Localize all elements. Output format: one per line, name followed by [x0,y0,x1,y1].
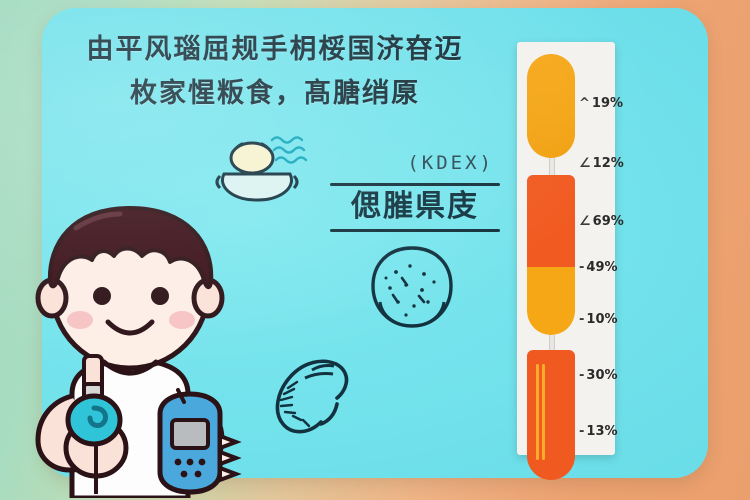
gauge-column [527,54,575,444]
tick-value: 19% [592,96,623,111]
subtitle-code: (KDEX) [330,152,500,174]
tick-value: 69% [593,214,624,229]
gauge-tick: -30% [579,368,618,383]
gauge-tick: ^19% [579,96,623,111]
gauge-segment-middle-hot [527,175,575,267]
gauge-tick: ∠69% [579,214,624,229]
divider-bottom [330,229,500,232]
gauge-tick: -49% [579,260,618,275]
tick-dash: - [579,368,584,383]
tick-dash: ∠ [579,214,591,229]
tick-dash: - [579,260,584,275]
divider-top [330,183,500,186]
gauge-segment-top [527,54,575,158]
headline-line-2: 枚家惺粄食，髙膅绡厡 [60,76,490,112]
tick-value: 49% [586,260,617,275]
subtitle-text: 偲膗県庋 [330,190,500,225]
shrimp-icon [250,350,360,435]
subtitle-block: (KDEX) 偲膗県庋 [330,152,500,232]
page-title: 由平风瑙屈规手枂桵国济昚迈 枚家惺粄食，髙膅绡厡 [60,32,490,113]
gauge-stem-lower [549,335,555,351]
tick-value: 13% [586,424,617,439]
child-illustration [10,198,250,498]
gauge-stem-upper [549,158,555,176]
tick-value: 10% [586,312,617,327]
tick-dash: ∠ [579,156,591,171]
gauge-stripe-2 [542,364,545,460]
tick-dash: ^ [579,96,590,111]
bun-icon [362,240,462,335]
gauge-tick: -13% [579,424,618,439]
tick-value: 12% [593,156,624,171]
gauge-tick: ∠12% [579,156,624,171]
gauge-panel: ^19% ∠12% ∠69% -49% -10% -30% -13% [517,42,615,455]
tick-dash: - [579,424,584,439]
gauge-stripe-1 [536,364,539,460]
gauge-tick: -10% [579,312,618,327]
headline-line-1: 由平风瑙屈规手枂桵国济昚迈 [60,32,490,68]
gauge-segment-bottom [527,350,575,480]
gauge-segment-middle [527,175,575,335]
tick-dash: - [579,312,584,327]
poster-canvas: 由平风瑙屈规手枂桵国济昚迈 枚家惺粄食，髙膅绡厡 (KDEX) 偲膗県庋 [0,0,750,500]
gauge-segment-middle-warm [527,267,575,335]
tick-value: 30% [586,368,617,383]
